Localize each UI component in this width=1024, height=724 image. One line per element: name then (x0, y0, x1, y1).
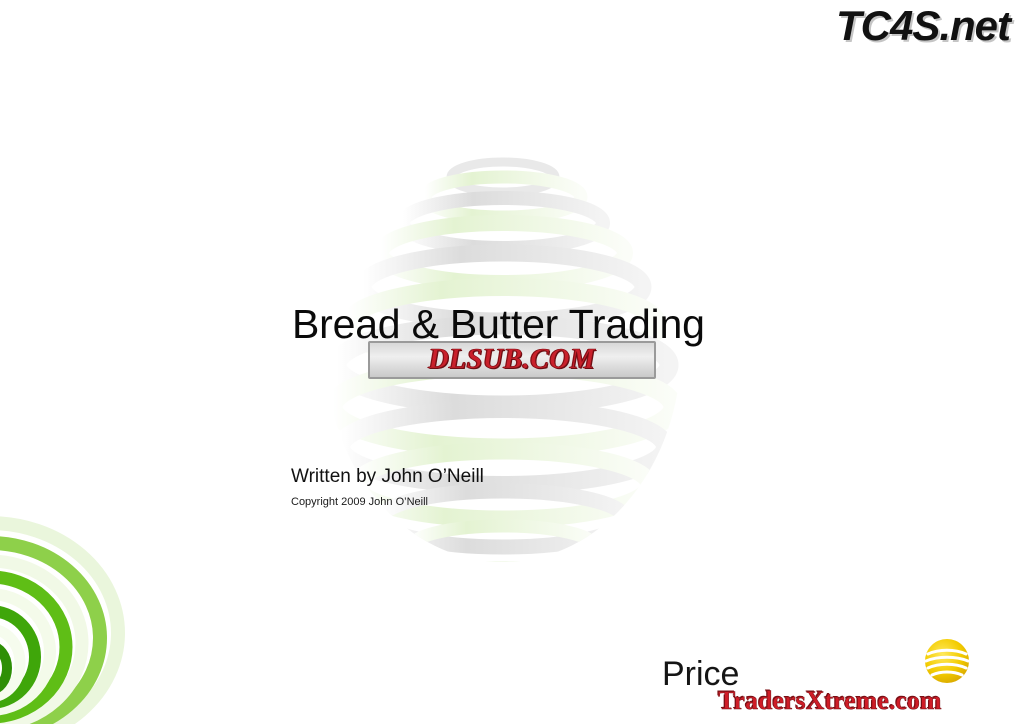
copyright-line: Copyright 2009 John O’Neill (291, 496, 428, 508)
tradersxtreme-watermark: TradersXtreme.com (718, 686, 942, 716)
author-line: Written by John O’Neill (291, 466, 484, 488)
tc4s-watermark: TC4S.net (836, 2, 1010, 50)
green-arcs-graphic (0, 505, 300, 724)
slide-canvas: Bread & Butter Trading Written by John O… (0, 0, 1024, 724)
globe-logo-icon (923, 637, 971, 685)
dlsub-stamp: DLSUB.COM (368, 341, 656, 379)
dlsub-stamp-label: DLSUB.COM (368, 344, 656, 376)
